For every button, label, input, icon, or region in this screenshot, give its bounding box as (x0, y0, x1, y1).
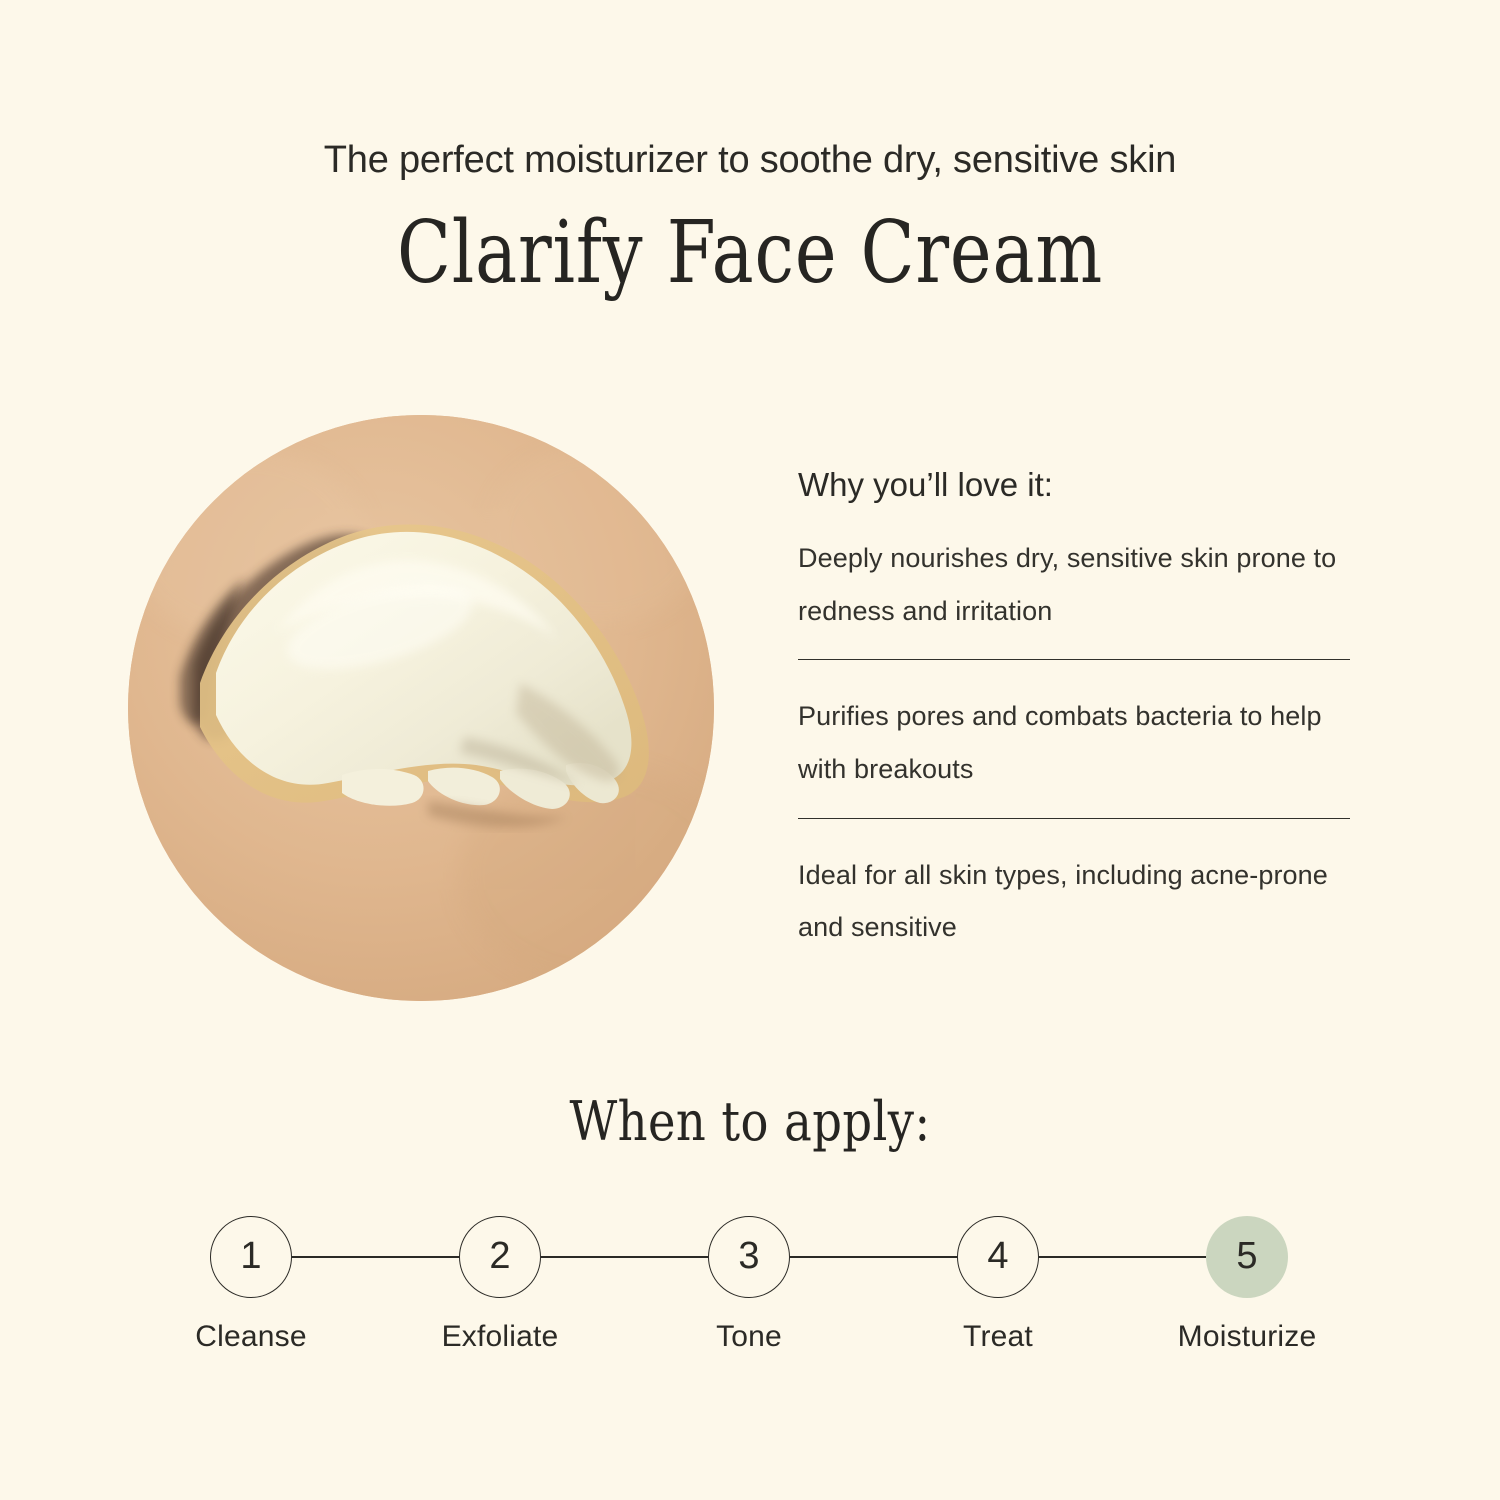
step-label-5: Moisturize (1127, 1320, 1367, 1354)
step-connector (292, 1256, 459, 1258)
step-number: 4 (987, 1237, 1008, 1275)
routine-stepper: 1 2 3 4 5 Cleanse Exfoliate Tone Treat M… (210, 1216, 1290, 1386)
cream-swatch-illustration (128, 415, 714, 1001)
step-circle-1[interactable]: 1 (210, 1216, 292, 1298)
step-circle-4[interactable]: 4 (957, 1216, 1039, 1298)
header: The perfect moisturizer to soothe dry, s… (0, 138, 1500, 300)
step-label-4: Treat (878, 1320, 1118, 1354)
step-circle-3[interactable]: 3 (708, 1216, 790, 1298)
subtitle: The perfect moisturizer to soothe dry, s… (0, 138, 1500, 184)
step-number: 1 (240, 1237, 261, 1275)
step-circle-5[interactable]: 5 (1206, 1216, 1288, 1298)
product-image (128, 415, 714, 1001)
step-connector (790, 1256, 957, 1258)
step-connector (1039, 1256, 1206, 1258)
routine-heading: When to apply: (105, 1090, 1395, 1153)
benefits-heading: Why you’ll love it: (798, 466, 1350, 504)
step-label-2: Exfoliate (380, 1320, 620, 1354)
page-title: Clarify Face Cream (135, 206, 1365, 301)
benefit-item: Purifies pores and combats bacteria to h… (798, 690, 1350, 818)
step-circle-2[interactable]: 2 (459, 1216, 541, 1298)
step-number: 3 (738, 1237, 759, 1275)
benefit-text: Deeply nourishes dry, sensitive skin pro… (798, 532, 1350, 637)
step-connector (541, 1256, 708, 1258)
benefit-text: Ideal for all skin types, including acne… (798, 849, 1350, 954)
step-number: 2 (489, 1237, 510, 1275)
step-number: 5 (1236, 1237, 1257, 1275)
benefit-text: Purifies pores and combats bacteria to h… (798, 690, 1350, 795)
product-infographic: The perfect moisturizer to soothe dry, s… (0, 0, 1500, 1500)
benefit-item: Ideal for all skin types, including acne… (798, 849, 1350, 976)
step-label-1: Cleanse (131, 1320, 371, 1354)
step-label-3: Tone (629, 1320, 869, 1354)
benefits-section: Why you’ll love it: Deeply nourishes dry… (798, 466, 1350, 976)
stepper-track: 1 2 3 4 5 Cleanse Exfoliate Tone Treat M… (210, 1216, 1290, 1298)
benefit-item: Deeply nourishes dry, sensitive skin pro… (798, 532, 1350, 660)
